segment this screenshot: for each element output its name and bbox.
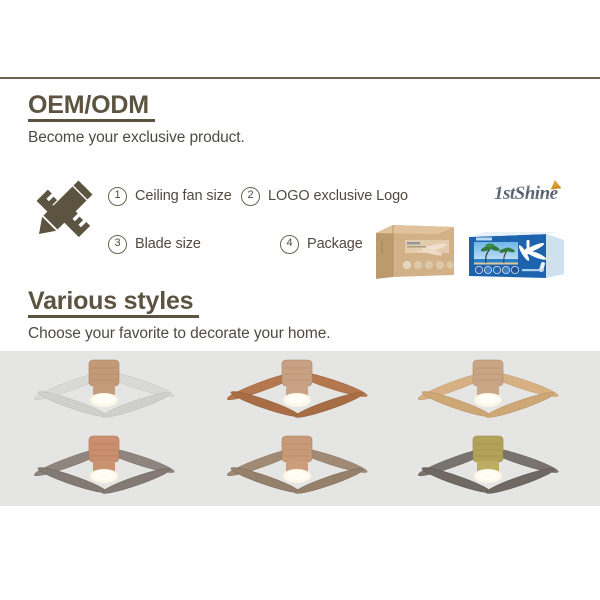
various-styles-section: Various styles Choose your favorite to d…: [28, 288, 573, 344]
pencil-ruler-icon: [28, 178, 100, 246]
fan-thumbnail-2[interactable]: [205, 352, 390, 428]
feature-number-1: 1: [108, 187, 127, 206]
feature-label-4: Package: [307, 236, 363, 252]
various-styles-heading: Various styles: [28, 288, 199, 318]
feature-label-1: Ceiling fan size: [135, 188, 232, 204]
fan-thumbnail-4[interactable]: [12, 428, 197, 504]
feature-item-package: 4 Package: [280, 235, 363, 254]
brand-logo-text: 1stShine: [494, 183, 558, 204]
feature-item-logo-exclusive: 2 LOGO exclusive Logo: [241, 187, 408, 206]
oem-odm-subheading: Become your exclusive product.: [28, 129, 573, 148]
fan-style-gallery: [0, 351, 600, 506]
header-divider: [0, 77, 600, 79]
fan-thumbnail-6[interactable]: [396, 428, 581, 504]
feature-number-3: 3: [108, 235, 127, 254]
feature-number-2: 2: [241, 187, 260, 206]
kraft-carton-box-image: [376, 221, 454, 283]
feature-label-3: Blade size: [135, 236, 201, 252]
fan-thumbnail-1[interactable]: [12, 352, 197, 428]
feature-row-2: 3 Blade size 4 Package: [108, 220, 408, 268]
feature-item-ceiling-fan-size: 1 Ceiling fan size: [108, 187, 241, 206]
feature-item-blade-size: 3 Blade size: [108, 235, 280, 254]
various-styles-subheading: Choose your favorite to decorate your ho…: [28, 325, 573, 344]
oem-odm-section: OEM/ODM Become your exclusive product.: [28, 92, 573, 148]
brand-logo: 1stShine: [494, 183, 590, 209]
product-marketing-page: OEM/ODM Become your exclusive product.: [0, 0, 600, 600]
oem-feature-list: 1 Ceiling fan size 2 LOGO exclusive Logo…: [108, 172, 408, 268]
feature-row-1: 1 Ceiling fan size 2 LOGO exclusive Logo: [108, 172, 408, 220]
fan-thumbnail-5[interactable]: [205, 428, 390, 504]
feature-number-4: 4: [280, 235, 299, 254]
feature-label-2: LOGO exclusive Logo: [268, 188, 408, 204]
blue-retail-box-image: [466, 231, 564, 281]
fan-thumbnail-3[interactable]: [396, 352, 581, 428]
oem-odm-heading: OEM/ODM: [28, 92, 155, 122]
